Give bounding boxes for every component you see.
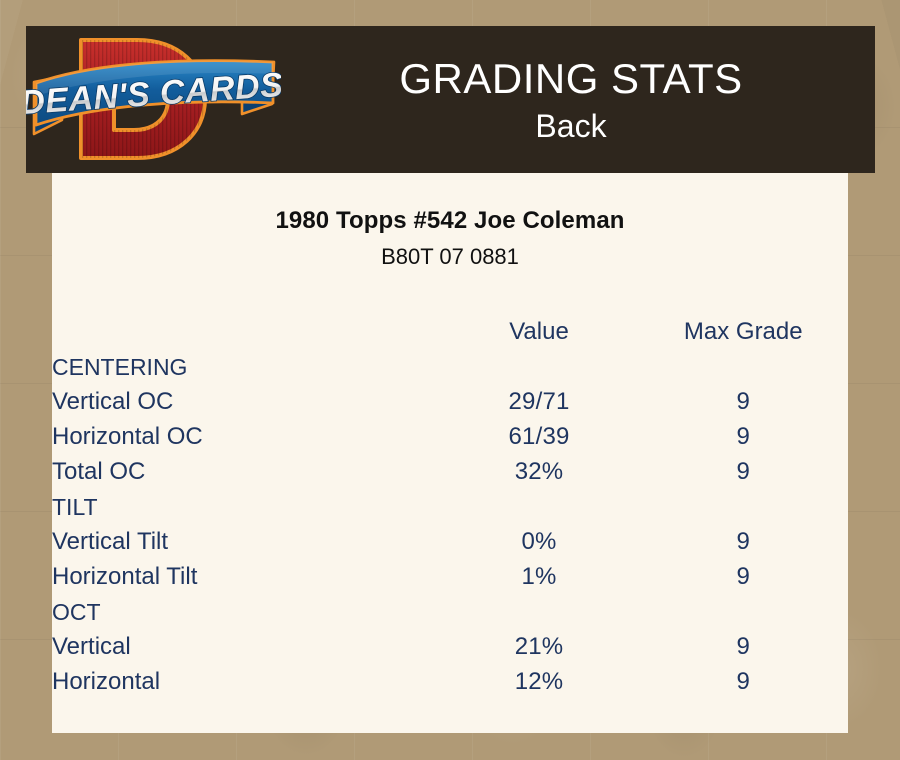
stat-value: 61/39 xyxy=(440,416,639,451)
stat-label: Vertical xyxy=(52,626,440,661)
stat-max-grade: 9 xyxy=(639,451,848,486)
stat-label: Horizontal Tilt xyxy=(52,556,440,591)
card-serial-number: B80T 07 0881 xyxy=(52,244,848,270)
stat-label: Vertical OC xyxy=(52,381,440,416)
stat-label: Horizontal OC xyxy=(52,416,440,451)
stat-value: 32% xyxy=(440,451,639,486)
header-bar: DEAN'S CARDS GRADING STATS Back xyxy=(26,26,875,173)
card-title: 1980 Topps #542 Joe Coleman xyxy=(52,207,848,235)
column-header-category xyxy=(52,302,440,346)
stat-max-grade: 9 xyxy=(639,661,848,696)
section-title: CENTERING xyxy=(52,346,440,381)
page-title: GRADING STATS xyxy=(281,58,861,100)
table-row: Vertical Tilt 0% 9 xyxy=(52,521,848,556)
section-header-row: OCT xyxy=(52,591,848,626)
stat-value: 29/71 xyxy=(440,381,639,416)
deans-cards-logo[interactable]: DEAN'S CARDS xyxy=(26,26,281,173)
section-title: TILT xyxy=(52,486,440,521)
section-header-row: TILT xyxy=(52,486,848,521)
stat-value: 21% xyxy=(440,626,639,661)
stat-value: 1% xyxy=(440,556,639,591)
column-header-max-grade: Max Grade xyxy=(639,302,848,346)
stat-value: 12% xyxy=(440,661,639,696)
stat-max-grade: 9 xyxy=(639,416,848,451)
table-row: Horizontal 12% 9 xyxy=(52,661,848,696)
table-row: Vertical 21% 9 xyxy=(52,626,848,661)
section-header-row: CENTERING xyxy=(52,346,848,381)
table-row: Total OC 32% 9 xyxy=(52,451,848,486)
page-subtitle: Back xyxy=(281,110,861,142)
table-header-row: Value Max Grade xyxy=(52,302,848,346)
section-title: OCT xyxy=(52,591,440,626)
stat-value: 0% xyxy=(440,521,639,556)
stat-label: Horizontal xyxy=(52,661,440,696)
stat-max-grade: 9 xyxy=(639,521,848,556)
stat-label: Vertical Tilt xyxy=(52,521,440,556)
stat-label: Total OC xyxy=(52,451,440,486)
table-row: Horizontal OC 61/39 9 xyxy=(52,416,848,451)
table-row: Horizontal Tilt 1% 9 xyxy=(52,556,848,591)
grading-stats-table: Value Max Grade CENTERING Vertical OC 29… xyxy=(52,302,848,696)
stats-table-body: CENTERING Vertical OC 29/71 9 Horizontal… xyxy=(52,346,848,696)
stat-max-grade: 9 xyxy=(639,626,848,661)
header-titles: GRADING STATS Back xyxy=(281,58,875,142)
content-panel: 1980 Topps #542 Joe Coleman B80T 07 0881… xyxy=(52,173,848,733)
table-row: Vertical OC 29/71 9 xyxy=(52,381,848,416)
column-header-value: Value xyxy=(440,302,639,346)
stat-max-grade: 9 xyxy=(639,381,848,416)
stat-max-grade: 9 xyxy=(639,556,848,591)
